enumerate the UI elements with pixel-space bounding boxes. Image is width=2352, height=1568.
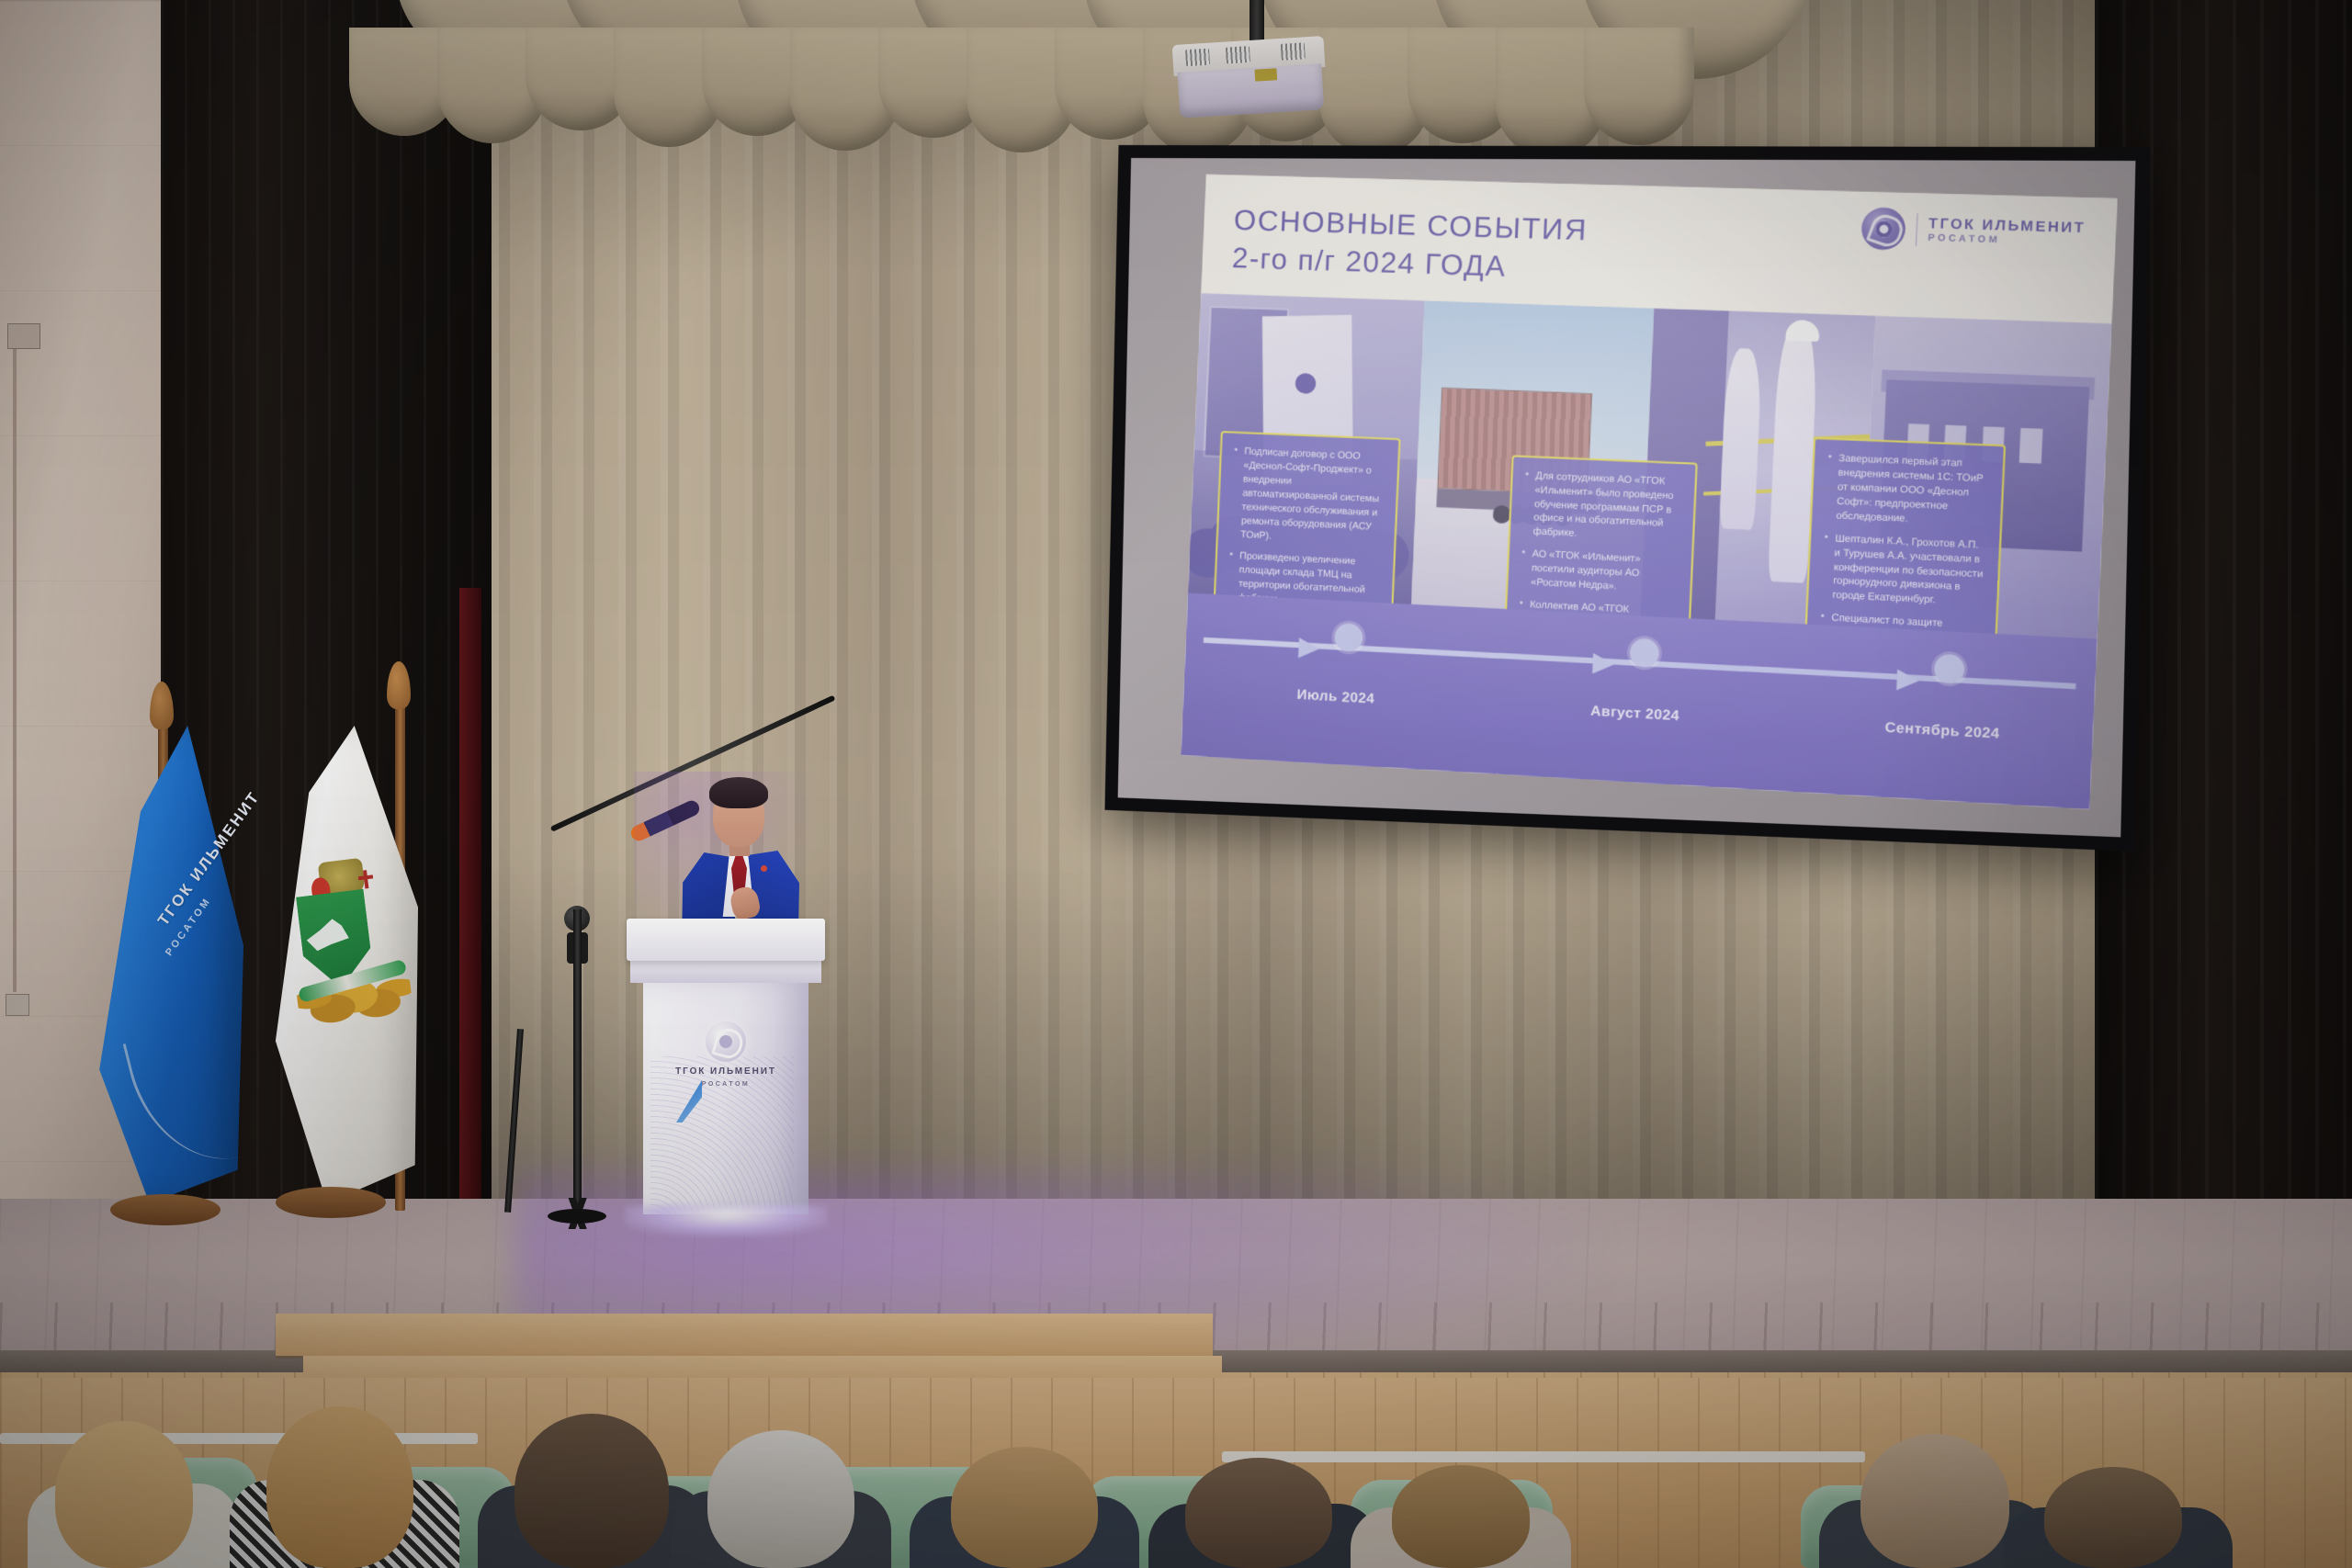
screen-surface: ОСНОВНЫЕ СОБЫТИЯ 2-го п/г 2024 ГОДА ТГОК…: [1118, 158, 2136, 837]
projector-vent-left: [1185, 49, 1210, 67]
timeline-arrow: [1895, 669, 1918, 691]
callout-bullet: АО «ТГОК «Ильменит» посетили аудиторы АО…: [1520, 547, 1679, 596]
presentation-slide: ОСНОВНЫЕ СОБЫТИЯ 2-го п/г 2024 ГОДА ТГОК…: [1181, 175, 2117, 809]
audience-member-head: [1185, 1458, 1332, 1568]
presenter-lapel-pin: [761, 865, 767, 872]
timeline-month-july: Июль 2024: [1296, 686, 1374, 706]
projection-screen: ОСНОВНЫЕ СОБЫТИЯ 2-го п/г 2024 ГОДА ТГОК…: [1104, 145, 2150, 852]
audience-member-head: [55, 1421, 193, 1568]
flag-stand-base: [110, 1194, 220, 1225]
slide-logo: ТГОК ИЛЬМЕНИТ РОСАТОМ: [1860, 208, 2086, 256]
ceiling-projector: [1172, 36, 1329, 120]
microphone-stand-pole: [573, 909, 582, 1213]
microphone-stand-base: [548, 1209, 606, 1224]
wall-switch-box: [6, 994, 29, 1016]
timeline-arrow: [1298, 637, 1319, 659]
audience-member-head: [2044, 1467, 2182, 1568]
projector-label: [1254, 68, 1277, 81]
projector-vent-right: [1281, 42, 1306, 61]
callout-bullet: Шепталин К.А., Грохотов А.П. и Турушев А…: [1821, 531, 1986, 610]
wall-junction-box: [7, 323, 40, 349]
flag-stand-base: [276, 1187, 386, 1218]
audience-member-head: [1860, 1434, 2009, 1568]
projector-body: [1177, 63, 1324, 118]
wall-cable: [13, 349, 17, 992]
podium-ledge: [630, 959, 821, 983]
podium-logo: ТГОК ИЛЬМЕНИТ РОСАТОМ: [634, 1021, 818, 1088]
podium-parent-name: РОСАТОМ: [702, 1081, 751, 1088]
rosatom-atom-icon: [1860, 208, 1906, 251]
timeline-arrow: [1592, 653, 1614, 675]
rosatom-atom-icon: [706, 1021, 746, 1062]
podium-top-surface: [627, 919, 825, 961]
projector-vent-mid: [1226, 46, 1250, 64]
logo-divider: [1916, 213, 1918, 246]
audience: [0, 1350, 2352, 1568]
callout-bullet: Подписан договор с ООО «Деснол-Софт-Прод…: [1230, 445, 1386, 548]
presenter: [665, 777, 812, 933]
callout-bullet: Завершился первый этап внедрения системы…: [1825, 451, 1990, 529]
podium-underglow: [625, 1205, 827, 1236]
auditorium-scene: ОСНОВНЫЕ СОБЫТИЯ 2-го п/г 2024 ГОДА ТГОК…: [0, 0, 2352, 1568]
audience-member-head: [514, 1414, 669, 1568]
callout-bullet: Для сотрудников АО «ТГОК «Ильменит» было…: [1522, 468, 1682, 546]
presenter-hair: [709, 777, 768, 808]
podium: ТГОК ИЛЬМЕНИТ РОСАТОМ: [634, 919, 818, 1222]
curtain-valance-lower: [349, 28, 1746, 165]
logo-text: ТГОК ИЛЬМЕНИТ РОСАТОМ: [1928, 217, 2086, 248]
audience-member-head: [1392, 1465, 1530, 1568]
timeline-month-september: Сентябрь 2024: [1884, 719, 2000, 742]
timeline-month-august: Август 2024: [1590, 703, 1679, 724]
audience-member-head: [266, 1406, 413, 1568]
audience-member-head: [707, 1430, 854, 1568]
audience-member-head: [951, 1447, 1098, 1568]
podium-company-name: ТГОК ИЛЬМЕНИТ: [675, 1066, 776, 1077]
curtain-red-strip: [459, 588, 481, 1213]
